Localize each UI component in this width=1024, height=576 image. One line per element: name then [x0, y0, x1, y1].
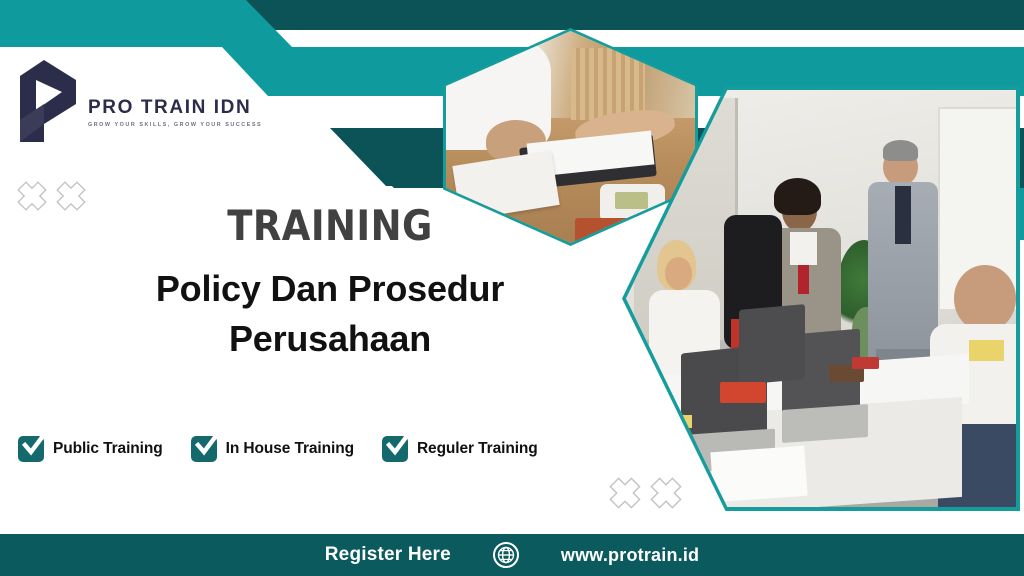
headline-title: Policy Dan Prosedur Perusahaan — [0, 264, 660, 363]
cross-pattern-icon — [649, 476, 683, 510]
brand-name: PRO TRAIN IDN — [88, 98, 262, 117]
promo-banner: PRO TRAIN IDN GROW YOUR SKILLS, GROW YOU… — [0, 0, 1024, 576]
headline-eyebrow: TRAINING — [40, 205, 621, 247]
cross-pattern-icon — [608, 476, 642, 510]
brand-logo: PRO TRAIN IDN GROW YOUR SKILLS, GROW YOU… — [14, 58, 224, 156]
footer-bar: Register Here www.protrain.id — [0, 534, 1024, 576]
website-url[interactable]: www.protrain.id — [561, 545, 699, 566]
option-label: Reguler Training — [417, 440, 538, 458]
check-mark-icon — [193, 431, 221, 459]
option-reguler-training[interactable]: Reguler Training — [382, 436, 538, 462]
register-here-label: Register Here — [325, 544, 451, 566]
brand-tagline: GROW YOUR SKILLS, GROW YOUR SUCCESS — [88, 122, 262, 128]
headline-title-line1: Policy Dan Prosedur — [0, 264, 660, 314]
headline-title-line2: Perusahaan — [0, 314, 660, 364]
pro-train-arrow-logo-icon — [14, 58, 86, 144]
checkbox-checked-icon[interactable] — [191, 436, 217, 462]
option-public-training[interactable]: Public Training — [18, 436, 163, 462]
option-label: Public Training — [53, 440, 163, 458]
decor-crosses-bottom — [608, 476, 683, 510]
checkbox-checked-icon[interactable] — [18, 436, 44, 462]
option-label: In House Training — [226, 440, 354, 458]
brand-logo-text: PRO TRAIN IDN GROW YOUR SKILLS, GROW YOU… — [88, 98, 262, 128]
headline-block: TRAINING Policy Dan Prosedur Perusahaan — [0, 205, 660, 363]
checkbox-checked-icon[interactable] — [382, 436, 408, 462]
check-mark-icon — [20, 431, 48, 459]
globe-icon — [493, 542, 519, 568]
option-in-house-training[interactable]: In House Training — [191, 436, 354, 462]
training-type-options: Public Training In House Training Regule… — [18, 436, 538, 462]
check-mark-icon — [384, 431, 412, 459]
